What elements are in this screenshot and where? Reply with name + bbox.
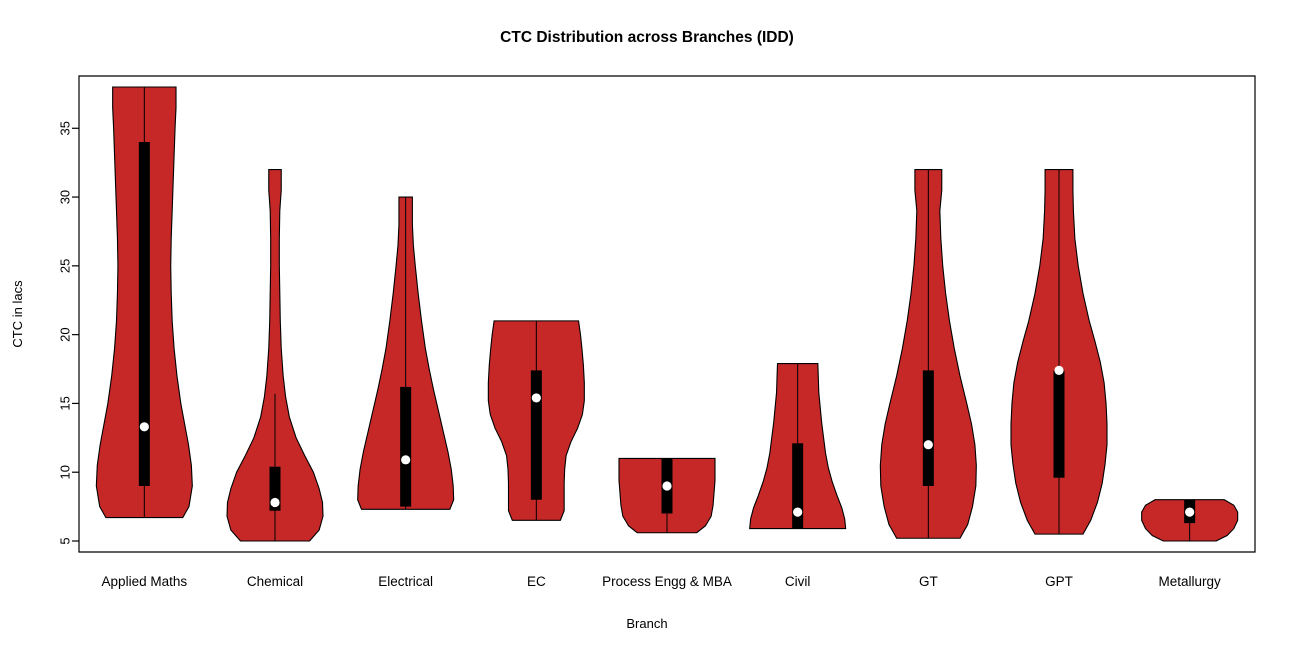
x-axis-category-label: Chemical xyxy=(247,574,303,589)
x-axis-category-label: Metallurgy xyxy=(1159,574,1222,589)
violin-group[interactable] xyxy=(1142,500,1238,541)
y-axis-tick-label: 10 xyxy=(58,465,73,479)
median-marker xyxy=(662,481,671,490)
median-marker xyxy=(401,455,410,464)
chart-title: CTC Distribution across Branches (IDD) xyxy=(500,29,794,46)
interquartile-box xyxy=(139,142,150,486)
interquartile-box xyxy=(923,370,934,486)
x-axis-category-label: Process Engg & MBA xyxy=(602,574,732,589)
y-axis-tick-label: 30 xyxy=(58,190,73,204)
y-axis-tick-label: 15 xyxy=(58,396,73,410)
median-marker xyxy=(140,422,149,431)
x-axis-category-label: Applied Maths xyxy=(102,574,188,589)
median-marker xyxy=(793,508,802,517)
x-axis-category-label: Civil xyxy=(785,574,811,589)
y-axis-title: CTC in lacs xyxy=(10,280,25,348)
median-marker xyxy=(270,498,279,507)
x-axis-category-label: EC xyxy=(527,574,546,589)
y-axis-tick-label: 5 xyxy=(58,537,73,544)
y-axis-tick-label: 25 xyxy=(58,259,73,273)
x-axis-category-label: GT xyxy=(919,574,938,589)
chart-background xyxy=(0,0,1294,653)
median-marker xyxy=(1185,508,1194,517)
interquartile-box xyxy=(531,370,542,499)
violin-group[interactable] xyxy=(619,458,715,532)
interquartile-box xyxy=(400,387,411,507)
median-marker xyxy=(924,440,933,449)
interquartile-box xyxy=(1054,370,1065,477)
x-axis-category-label: Electrical xyxy=(378,574,433,589)
median-marker xyxy=(1054,366,1063,375)
median-marker xyxy=(532,393,541,402)
x-axis-category-labels: Applied MathsChemicalElectricalECProcess… xyxy=(102,574,1221,589)
x-axis-title: Branch xyxy=(626,616,667,631)
violin-plot-svg: CTC Distribution across Branches (IDD) C… xyxy=(0,0,1294,653)
y-axis-tick-label: 20 xyxy=(58,327,73,341)
x-axis-category-label: GPT xyxy=(1045,574,1073,589)
y-axis-tick-label: 35 xyxy=(58,121,73,135)
violin-chart-root: CTC Distribution across Branches (IDD) C… xyxy=(0,0,1294,653)
